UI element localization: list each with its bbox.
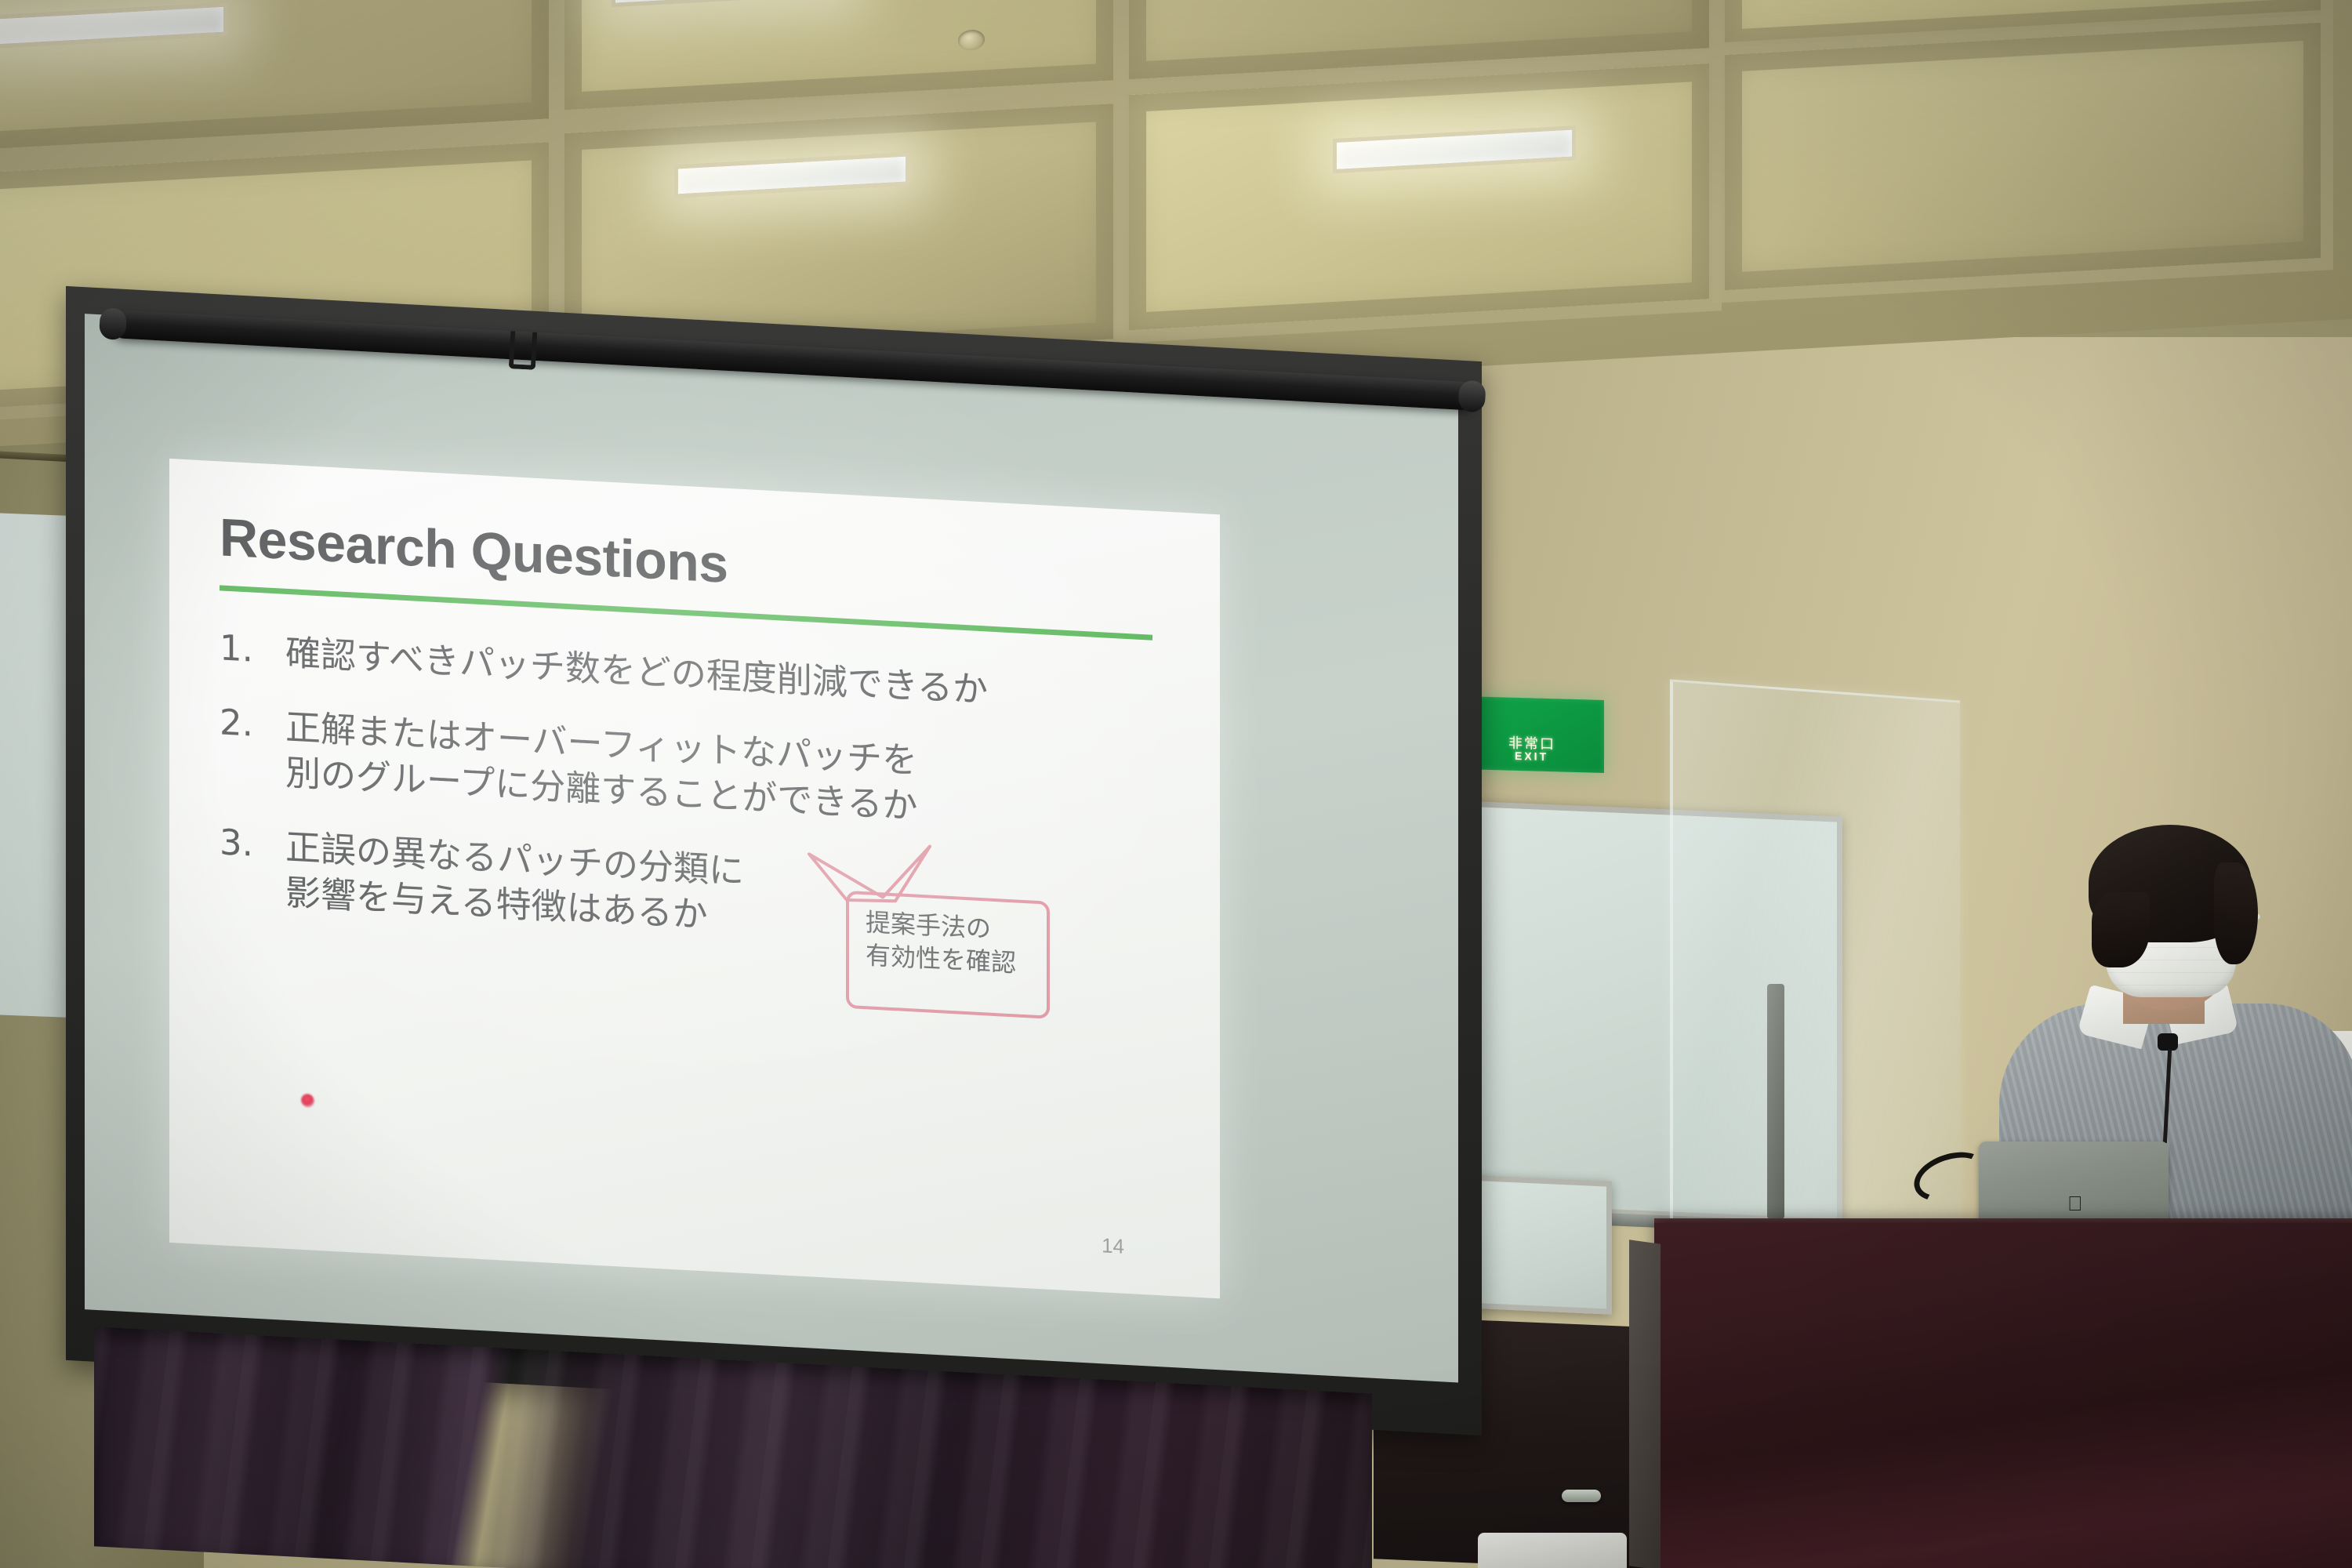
screen-pull-hook[interactable] <box>509 331 537 370</box>
roller-end-cap-left <box>99 307 127 340</box>
list-item-text: 正誤の異なるパッチの分類に 影響を与える特徴はあるか <box>285 824 744 940</box>
projector-screen-surface: Research Questions 1. 確認すべきパッチ数をどの程度削減でき… <box>85 314 1458 1382</box>
list-item-number: 1. <box>220 626 265 675</box>
ceiling-coffer <box>1129 0 1709 79</box>
list-item-number: 2. <box>220 701 265 795</box>
acrylic-barrier-post <box>1767 984 1784 1219</box>
list-item-text: 正解またはオーバーフィットなパッチを 別のグループに分離することができるか <box>285 704 917 829</box>
lapel-microphone-icon <box>2158 1033 2178 1051</box>
page-title: Research Questions <box>220 506 1170 619</box>
slide-page-number: 14 <box>1102 1233 1124 1259</box>
list-item-number: 3. <box>220 821 265 915</box>
ceiling-coffer <box>1129 64 1709 330</box>
acrylic-barrier-panel <box>1670 679 1960 1249</box>
exit-sign-label-en: EXIT <box>1515 750 1548 763</box>
projector-screen-frame: Research Questions 1. 確認すべきパッチ数をどの程度削減でき… <box>66 286 1482 1436</box>
ceiling-coffer <box>1725 23 2321 290</box>
floor-object <box>1478 1533 1627 1568</box>
lecture-room-scene: 非常口 EXIT  Resea <box>0 0 2352 1568</box>
cabinet-handle[interactable] <box>1562 1490 1601 1502</box>
presenter-hair-side <box>2214 862 2258 964</box>
list-item-text: 確認すべきパッチ数をどの程度削減できるか <box>285 630 988 713</box>
apple-logo-icon:  <box>2067 1196 2085 1214</box>
podium <box>1654 1223 2352 1568</box>
podium-side-panel <box>1629 1240 1661 1568</box>
list-item: 3. 正誤の異なるパッチの分類に 影響を与える特徴はあるか <box>220 821 1170 964</box>
list-item: 2. 正解またはオーバーフィットなパッチを 別のグループに分離することができるか <box>220 701 1170 844</box>
laser-pointer-dot <box>301 1094 314 1108</box>
ceiling-coffer <box>564 0 1113 110</box>
presentation-slide: Research Questions 1. 確認すべきパッチ数をどの程度削減でき… <box>169 459 1220 1298</box>
list-item-line: 確認すべきパッチ数をどの程度削減できるか <box>285 630 988 713</box>
research-questions-list: 1. 確認すべきパッチ数をどの程度削減できるか 2. 正解またはオーバーフィット… <box>220 626 1170 963</box>
